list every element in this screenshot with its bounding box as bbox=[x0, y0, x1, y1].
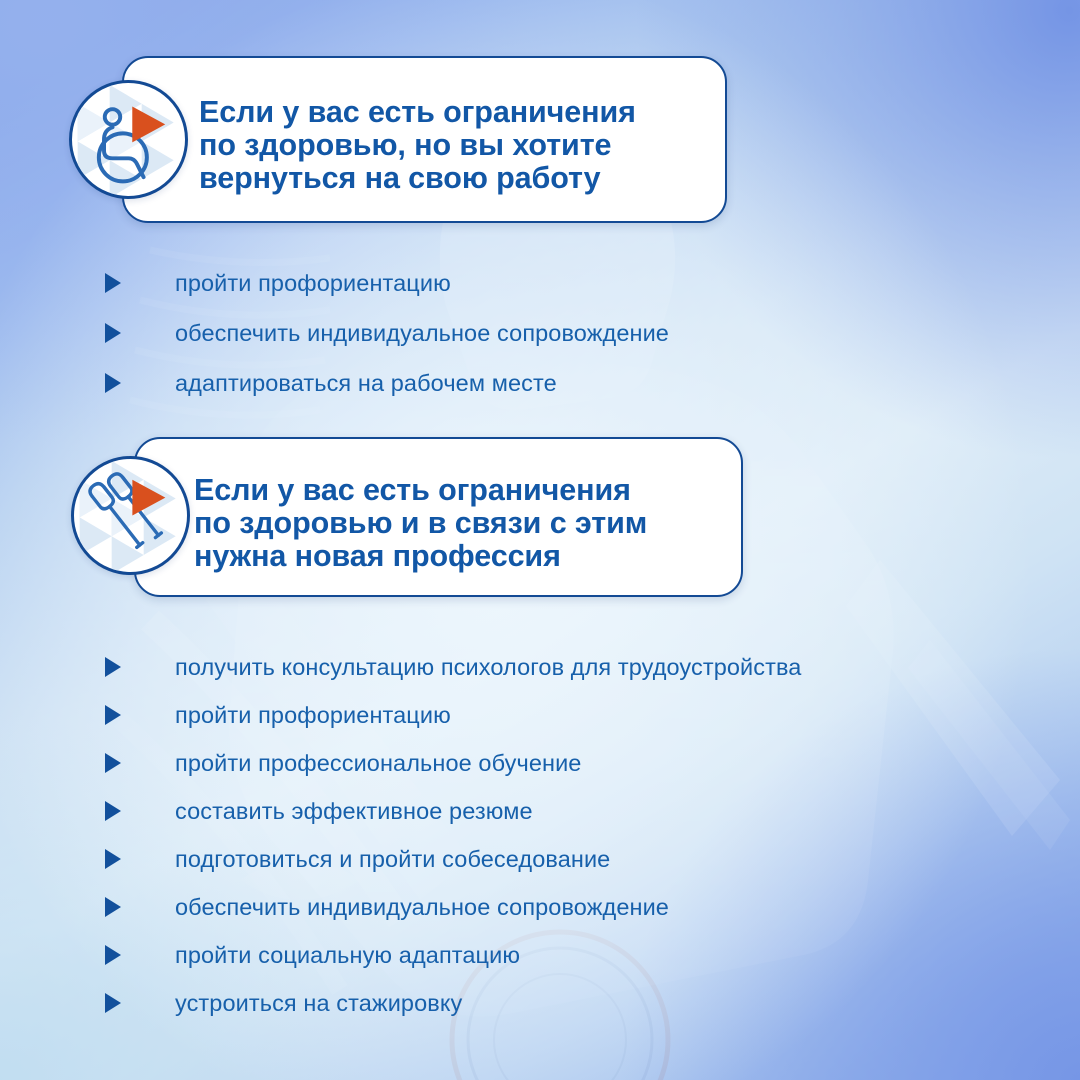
section-list-2: получить консультацию психологов для тру… bbox=[0, 643, 1080, 1027]
bullet-triangle-icon bbox=[105, 849, 121, 869]
list-item: получить консультацию психологов для тру… bbox=[0, 643, 1080, 691]
list-item-label: получить консультацию психологов для тру… bbox=[175, 654, 801, 681]
list-item: устроиться на стажировку bbox=[0, 979, 1080, 1027]
list-item-label: обеспечить индивидуальное сопровождение bbox=[175, 894, 669, 921]
bullet-triangle-icon bbox=[105, 897, 121, 917]
list-item-label: пройти профессиональное обучение bbox=[175, 750, 581, 777]
bullet-triangle-icon bbox=[105, 993, 121, 1013]
list-item-label: обеспечить индивидуальное сопровождение bbox=[175, 320, 669, 347]
list-item: пройти социальную адаптацию bbox=[0, 931, 1080, 979]
infographic-canvas: Если у вас есть ограничения по здоровью,… bbox=[0, 0, 1080, 1080]
section-list-1: пройти профориентацию обеспечить индивид… bbox=[0, 258, 1080, 408]
list-item-label: пройти социальную адаптацию bbox=[175, 942, 520, 969]
bullet-triangle-icon bbox=[105, 273, 121, 293]
list-item: адаптироваться на рабочем месте bbox=[0, 358, 1080, 408]
bullet-triangle-icon bbox=[105, 657, 121, 677]
list-item-label: адаптироваться на рабочем месте bbox=[175, 370, 557, 397]
crutches-icon-badge bbox=[71, 456, 190, 575]
section-title-1: Если у вас есть ограничения по здоровью,… bbox=[199, 96, 719, 195]
bullet-triangle-icon bbox=[105, 945, 121, 965]
list-item: составить эффективное резюме bbox=[0, 787, 1080, 835]
list-item: пройти профориентацию bbox=[0, 691, 1080, 739]
section-title-2: Если у вас есть ограничения по здоровью … bbox=[194, 474, 724, 573]
list-item-label: устроиться на стажировку bbox=[175, 990, 462, 1017]
bullet-triangle-icon bbox=[105, 323, 121, 343]
list-item-label: пройти профориентацию bbox=[175, 270, 451, 297]
bullet-triangle-icon bbox=[105, 753, 121, 773]
list-item: обеспечить индивидуальное сопровождение bbox=[0, 883, 1080, 931]
list-item-label: пройти профориентацию bbox=[175, 702, 451, 729]
list-item-label: составить эффективное резюме bbox=[175, 798, 533, 825]
list-item-label: подготовиться и пройти собеседование bbox=[175, 846, 610, 873]
bullet-triangle-icon bbox=[105, 705, 121, 725]
bullet-triangle-icon bbox=[105, 373, 121, 393]
list-item: пройти профориентацию bbox=[0, 258, 1080, 308]
list-item: обеспечить индивидуальное сопровождение bbox=[0, 308, 1080, 358]
bullet-triangle-icon bbox=[105, 801, 121, 821]
list-item: пройти профессиональное обучение bbox=[0, 739, 1080, 787]
list-item: подготовиться и пройти собеседование bbox=[0, 835, 1080, 883]
wheelchair-icon-badge bbox=[69, 80, 188, 199]
